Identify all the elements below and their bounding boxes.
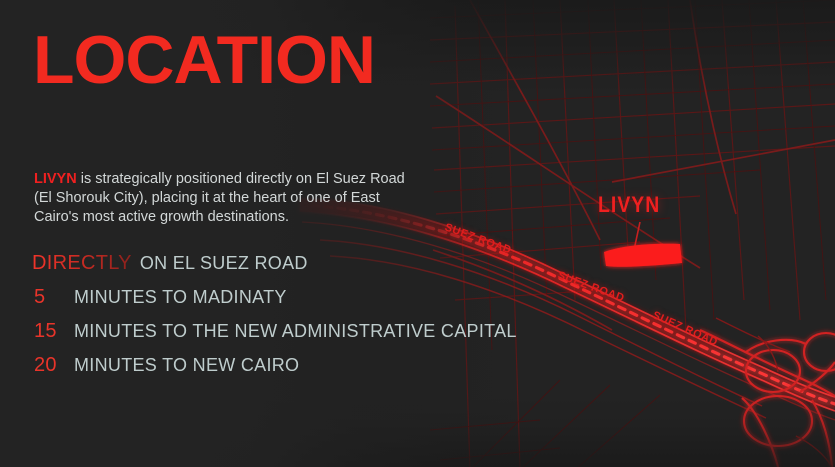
intro-body-text: is strategically positioned directly on … xyxy=(34,171,405,225)
fact-row-new-cairo: 20 MINUTES TO NEW CAIRO xyxy=(32,354,552,388)
fact-key-madinaty-minutes: 5 xyxy=(34,286,64,309)
location-slide: SUEZ ROAD SUEZ ROAD SUEZ ROAD LIVYN LOCA… xyxy=(0,0,835,467)
fact-value-new-cairo: MINUTES TO NEW CAIRO xyxy=(74,355,299,376)
facts-list: DIRECTLY ON EL SUEZ ROAD 5 MINUTES TO MA… xyxy=(32,252,552,388)
fact-key-new-cairo-minutes: 20 xyxy=(34,354,64,377)
intro-brand-name: LIVYN xyxy=(34,171,77,187)
fact-value-administrative-capital: MINUTES TO THE NEW ADMINISTRATIVE CAPITA… xyxy=(74,321,517,342)
page-title: LOCATION xyxy=(33,26,375,94)
fact-row-directly: DIRECTLY ON EL SUEZ ROAD xyxy=(32,252,552,286)
fact-key-directly: DIRECTLY xyxy=(32,252,132,275)
fact-row-madinaty: 5 MINUTES TO MADINATY xyxy=(32,286,552,320)
fact-row-administrative-capital: 15 MINUTES TO THE NEW ADMINISTRATIVE CAP… xyxy=(32,320,552,354)
fact-value-madinaty: MINUTES TO MADINATY xyxy=(74,287,287,308)
content-panel: LOCATION LIVYN is strategically position… xyxy=(0,0,835,467)
intro-paragraph: LIVYN is strategically positioned direct… xyxy=(34,170,426,227)
fact-value-directly: ON EL SUEZ ROAD xyxy=(140,253,308,274)
fact-key-administrative-capital-minutes: 15 xyxy=(34,320,64,343)
